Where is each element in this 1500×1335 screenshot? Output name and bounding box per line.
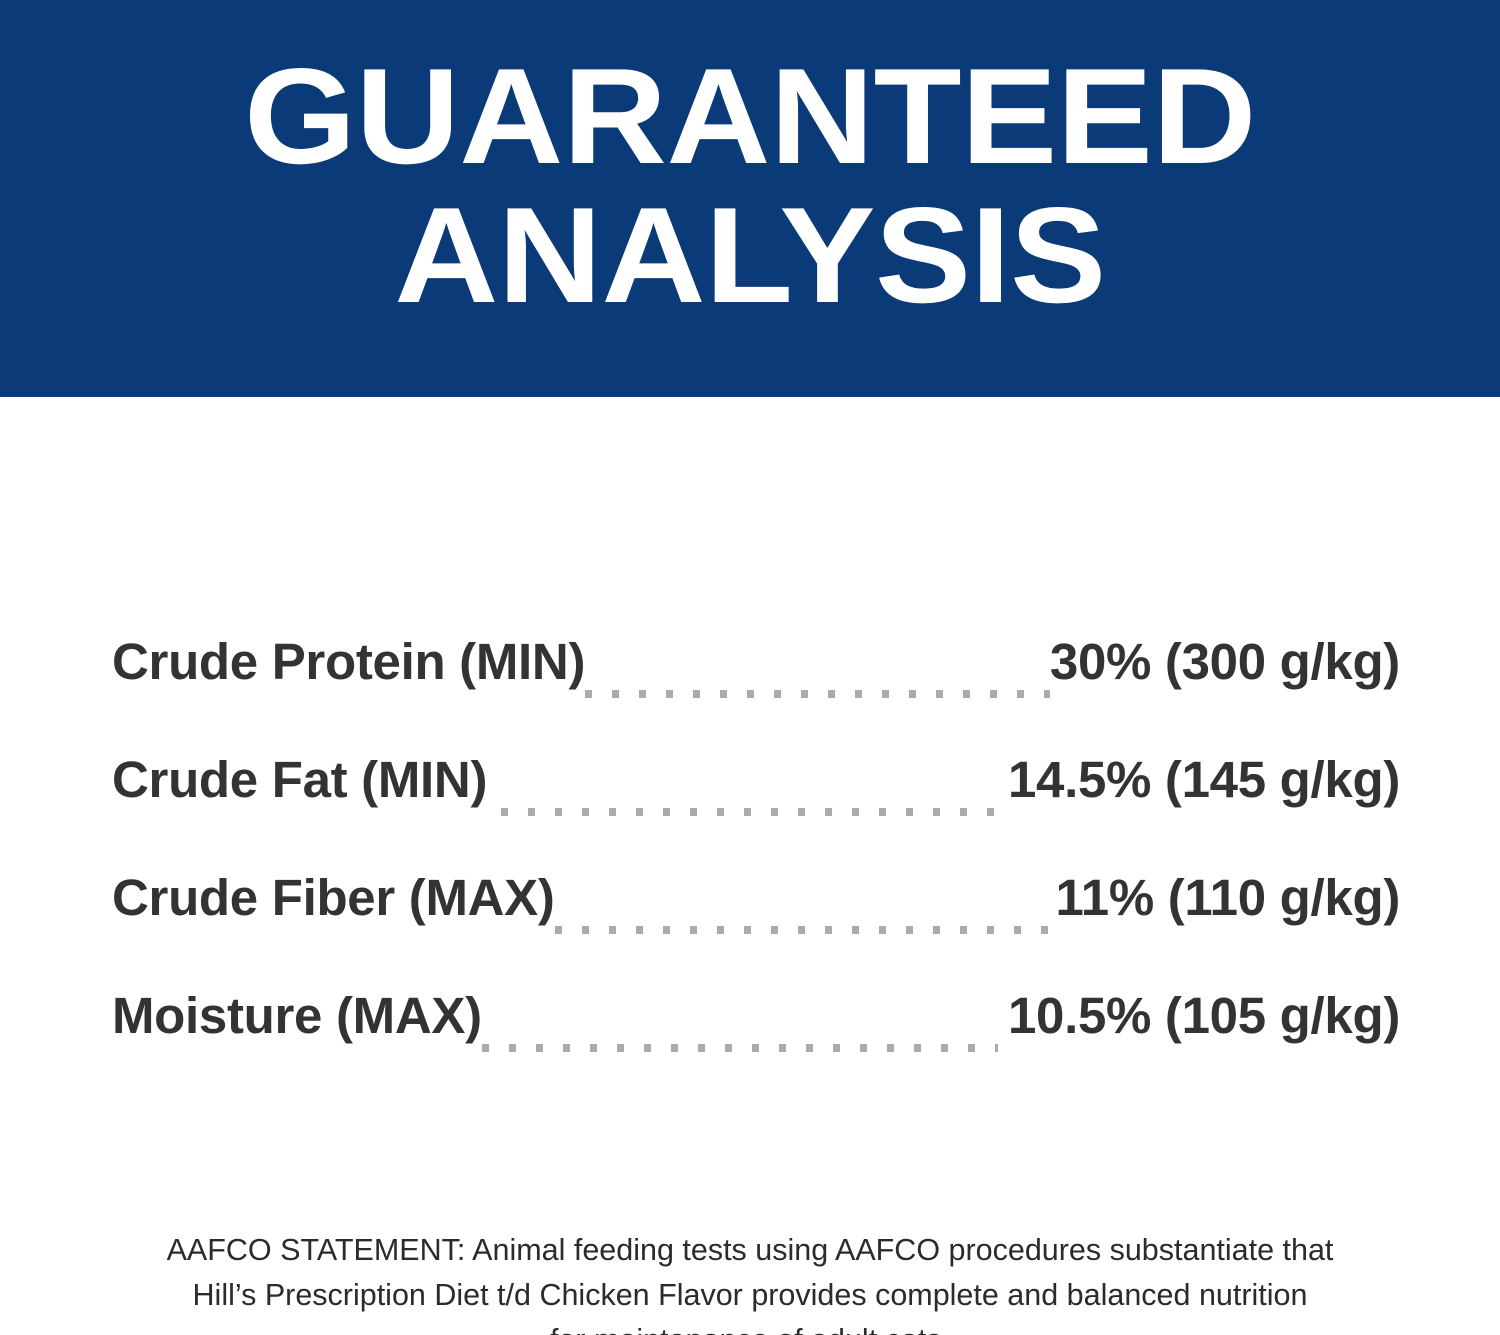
nutrient-table: Crude Protein (MIN) 30% (300 g/kg) Crude…	[112, 636, 1400, 1108]
table-row: Crude Protein (MIN) 30% (300 g/kg)	[112, 636, 1400, 754]
guaranteed-analysis-panel: GUARANTEED ANALYSIS Crude Protein (MIN) …	[0, 0, 1500, 1335]
page-title-line-1: GUARANTEED	[0, 52, 1500, 181]
nutrient-value: 30% (300 g/kg)	[1050, 636, 1400, 687]
page-title: GUARANTEED ANALYSIS	[0, 52, 1500, 320]
header-band: GUARANTEED ANALYSIS	[0, 0, 1500, 397]
nutrient-value: 10.5% (105 g/kg)	[1008, 990, 1400, 1041]
nutrient-value: 11% (110 g/kg)	[1056, 872, 1400, 923]
nutrient-label: Crude Protein (MIN)	[112, 636, 585, 687]
page-title-line-2: ANALYSIS	[0, 191, 1500, 320]
aafco-statement-line-3: for maintenance of adult cats.	[118, 1318, 1382, 1335]
dot-leader	[482, 1044, 998, 1052]
aafco-statement-line-2: Hill’s Prescription Diet t/d Chicken Fla…	[118, 1273, 1382, 1318]
nutrient-label: Crude Fat (MIN)	[112, 754, 487, 805]
table-row: Crude Fat (MIN) 14.5% (145 g/kg)	[112, 754, 1400, 872]
dot-leader	[501, 808, 998, 816]
nutrient-value: 14.5% (145 g/kg)	[1008, 754, 1400, 805]
table-row: Moisture (MAX) 10.5% (105 g/kg)	[112, 990, 1400, 1108]
table-row: Crude Fiber (MAX) 11% (110 g/kg)	[112, 872, 1400, 990]
nutrient-label: Crude Fiber (MAX)	[112, 872, 555, 923]
aafco-statement: AAFCO STATEMENT: Animal feeding tests us…	[118, 1228, 1382, 1335]
dot-leader	[585, 690, 1050, 698]
nutrient-label: Moisture (MAX)	[112, 990, 482, 1041]
dot-leader	[555, 926, 1056, 934]
aafco-statement-line-1: AAFCO STATEMENT: Animal feeding tests us…	[118, 1228, 1382, 1273]
